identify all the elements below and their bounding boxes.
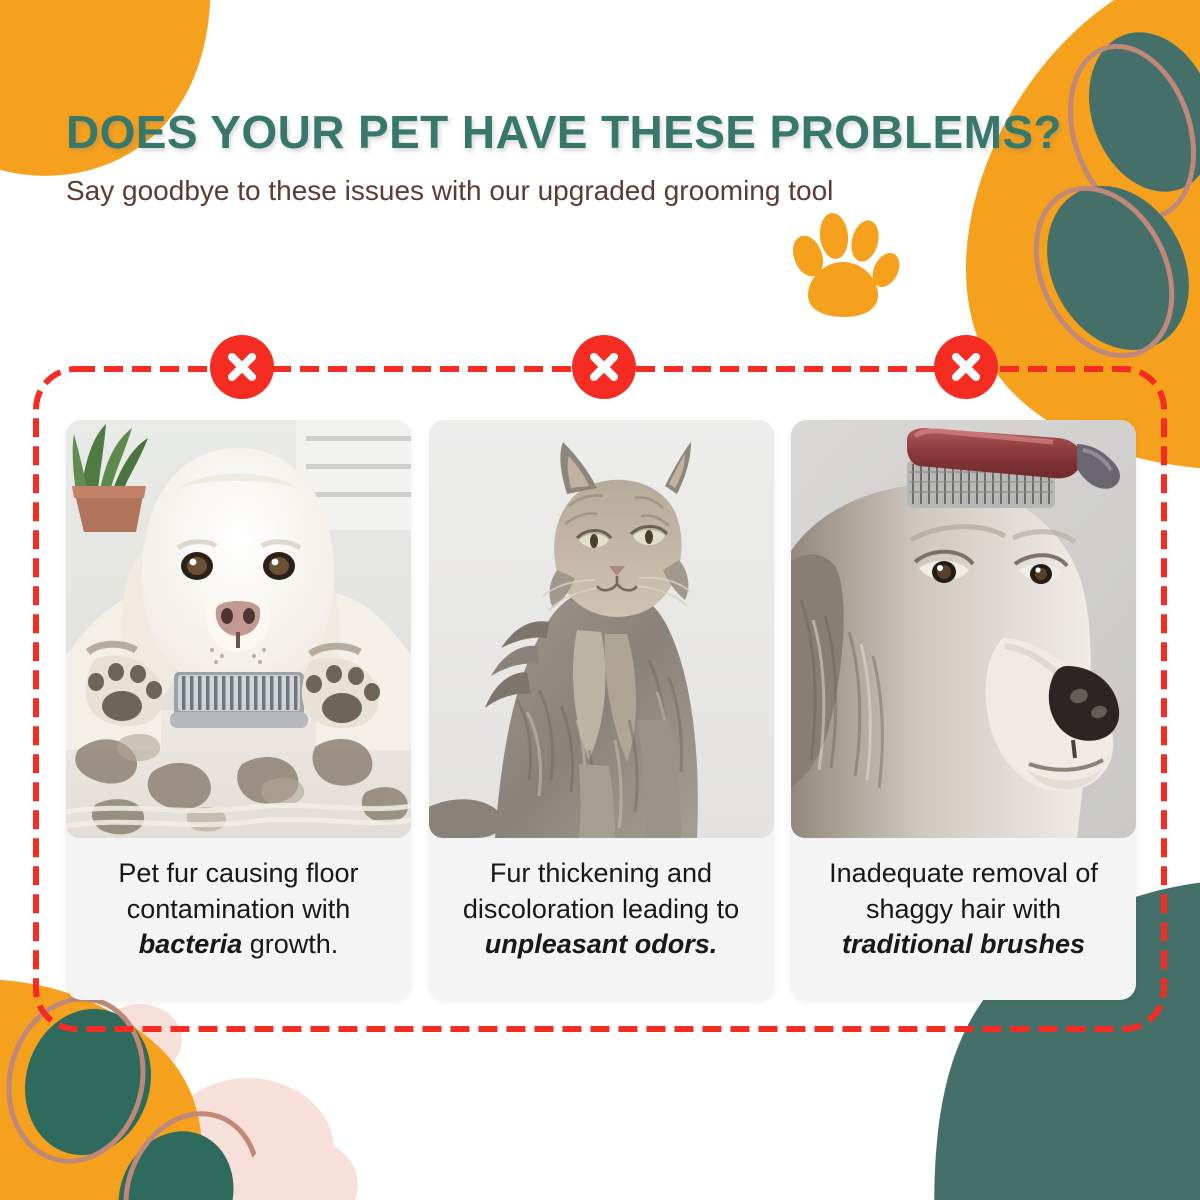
paw-print-icon <box>786 212 902 322</box>
caption-lead: Pet fur causing floor contamination with <box>118 858 358 924</box>
page-title: DOES YOUR PET HAVE THESE PROBLEMS? <box>66 108 1156 156</box>
problem-card: Pet fur causing floor contamination with… <box>66 420 411 1000</box>
page-subtitle: Say goodbye to these issues with our upg… <box>66 170 856 212</box>
card-caption: Fur thickening and discoloration leading… <box>429 838 774 1000</box>
card-caption: Pet fur causing floor contamination with… <box>66 838 411 1000</box>
caption-strong: traditional brushes <box>842 929 1085 959</box>
x-badge-2 <box>572 335 636 399</box>
caption-lead: Inadequate removal of shaggy hair with <box>829 858 1098 924</box>
card-caption: Inadequate removal of shaggy hair with t… <box>791 838 1136 1000</box>
dog-with-comb-photo <box>66 420 411 838</box>
x-mark-icon <box>584 347 624 387</box>
dog-with-brush-photo <box>791 420 1136 838</box>
blob-bottom-left-pink-right <box>162 1078 334 1200</box>
blob-bottom-left-orange-2 <box>0 1035 209 1200</box>
ring-bottom-left-rose-2 <box>104 1095 279 1200</box>
poster-canvas: DOES YOUR PET HAVE THESE PROBLEMS? Say g… <box>0 0 1200 1200</box>
caption-tail: growth. <box>242 929 338 959</box>
caption-strong: unpleasant odors. <box>485 929 718 959</box>
problem-card-list: Pet fur causing floor contamination with… <box>66 420 1136 1000</box>
problem-card: Inadequate removal of shaggy hair with t… <box>791 420 1136 1000</box>
x-mark-icon <box>946 347 986 387</box>
x-badge-1 <box>210 335 274 399</box>
x-badge-3 <box>934 335 998 399</box>
ellipse-bottom-left-teal-2 <box>99 1114 252 1200</box>
blob-bottom-left-pink-far <box>242 1137 358 1200</box>
caption-strong: bacteria <box>139 929 243 959</box>
x-mark-icon <box>222 347 262 387</box>
caption-lead: Fur thickening and discoloration leading… <box>463 858 739 924</box>
header: DOES YOUR PET HAVE THESE PROBLEMS? Say g… <box>66 108 1156 212</box>
problem-card: Fur thickening and discoloration leading… <box>429 420 774 1000</box>
matted-cat-photo <box>429 420 774 838</box>
